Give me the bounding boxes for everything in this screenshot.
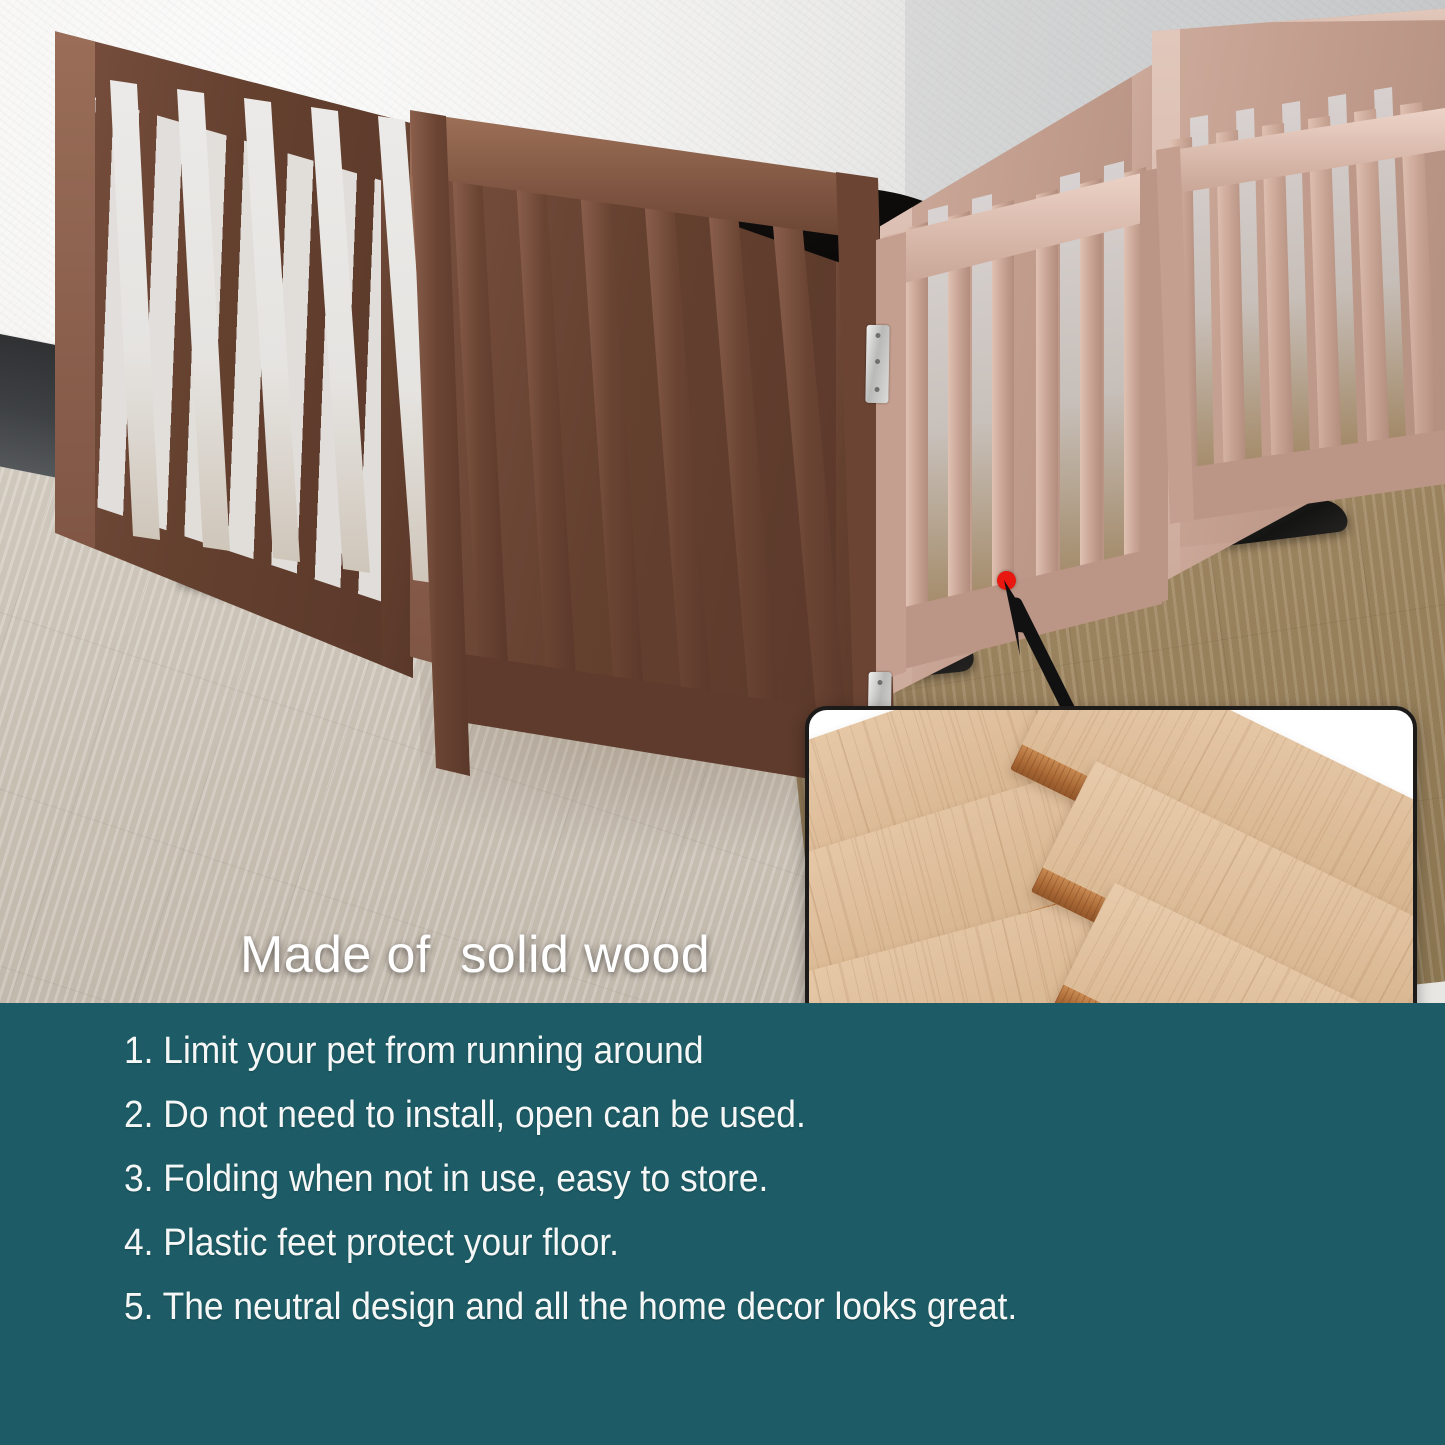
product-photo-scene: Made of solid wood	[0, 0, 1445, 1003]
made-of-solid-wood-caption: Made of solid wood	[240, 925, 710, 985]
gate-panel-1	[55, 18, 413, 678]
wood-detail-inset	[805, 706, 1417, 1003]
features-list: 1. Limit your pet from running around 2.…	[124, 1019, 1405, 1339]
feature-item-3: 3. Folding when not in use, easy to stor…	[124, 1147, 1315, 1211]
features-panel: 1. Limit your pet from running around 2.…	[0, 1003, 1445, 1445]
feature-item-4: 4. Plastic feet protect your floor.	[124, 1211, 1315, 1275]
gate-panel-4	[1152, 8, 1445, 588]
feature-item-1: 1. Limit your pet from running around	[124, 1019, 1315, 1083]
product-infographic: Made of solid wood	[0, 0, 1445, 1445]
gate-panel-2	[410, 112, 870, 784]
feature-item-5: 5. The neutral design and all the home d…	[124, 1275, 1315, 1339]
gate-hinge-top	[865, 325, 889, 403]
feature-item-2: 2. Do not need to install, open can be u…	[124, 1083, 1315, 1147]
